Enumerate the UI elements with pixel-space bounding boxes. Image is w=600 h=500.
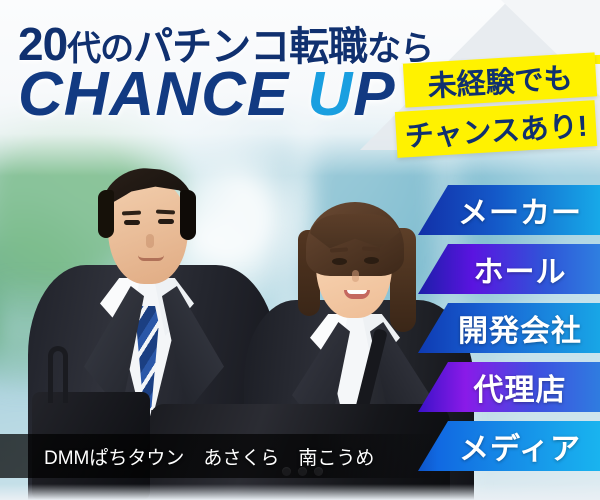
male-mouth (138, 255, 164, 261)
credit-caption-text: DMMぱちタウン あさくら 南こうめ (0, 443, 374, 470)
category-5-label: メディア (459, 424, 581, 468)
female-eye-right (364, 257, 379, 264)
male-eye-right (158, 219, 174, 224)
promo-banner: 20代のパチンコ転職なら CHANCE UP 未経験でも チャンスあり! メーカ… (0, 0, 600, 500)
category-4-label: 代理店 (474, 365, 567, 409)
badge-2-label: チャンスあり! (404, 103, 589, 156)
category-button-hall[interactable]: ホール (418, 244, 600, 294)
female-eye-left (332, 258, 347, 265)
chance-up-logo: CHANCE UP (18, 64, 396, 126)
category-button-maker[interactable]: メーカー (418, 185, 600, 235)
category-3-label: 開発会社 (458, 306, 582, 350)
badge-1-label: 未経験でも (426, 55, 573, 106)
category-button-development-company[interactable]: 開発会社 (418, 303, 600, 353)
female-teeth (347, 290, 367, 294)
category-button-media[interactable]: メディア (418, 421, 600, 471)
credit-caption-bar: DMMぱちタウン あさくら 南こうめ (0, 434, 438, 478)
bottom-fade-strip (0, 484, 600, 500)
category-button-agency[interactable]: 代理店 (418, 362, 600, 412)
female-nose (352, 270, 359, 282)
logo-chance-text: CHANCE (18, 60, 307, 129)
category-1-label: メーカー (458, 188, 582, 232)
category-2-label: ホール (474, 247, 567, 291)
logo-p-letter: P (353, 60, 395, 129)
male-nose (146, 234, 154, 248)
logo-u-letter: U (307, 64, 353, 126)
male-eye-left (124, 220, 140, 225)
male-hair-side-right (180, 190, 196, 240)
male-hair-side-left (98, 190, 114, 238)
